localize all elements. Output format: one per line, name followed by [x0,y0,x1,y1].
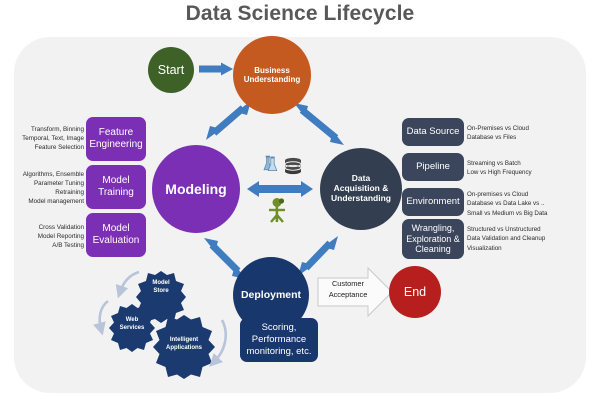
box-environment-label: Environment [406,196,459,208]
gear-web-services-label: Web Services [112,317,152,333]
box-scoring-performance-monitoring[interactable]: Scoring, Performance monitoring, etc. [240,318,318,362]
fe-detail-1: Transform, Binning [0,125,84,134]
me-detail-1: Cross Validation [0,223,84,232]
gw-line2: Services [120,325,145,331]
env-detail-3: Small vs Medium vs Big Data [467,209,587,218]
box-pipeline-label: Pipeline [416,161,450,173]
box-pipeline[interactable]: Pipeline [402,153,464,181]
node-start-label: Start [158,63,184,77]
gw-line1: Web [126,317,139,323]
node-business-understanding-label: Business Understanding [244,66,300,84]
mt-detail-2: Parameter Tuning [0,179,84,188]
details-feature-engineering: Transform, Binning Temporal, Text, Image… [0,125,84,152]
gi-line1: Intelligent [170,337,198,343]
me-line2: Evaluation [93,235,140,246]
node-modeling[interactable]: Modeling [152,145,240,233]
box-wrangling-label: Wrangling, Exploration & Cleaning [406,223,460,256]
fe-line2: Engineering [89,139,142,150]
sc-line2: Performance [252,334,306,345]
wr-line2: Exploration & [406,234,460,244]
env-detail-2: Database vs Data Lake vs .. [467,199,587,208]
node-deployment-label: Deployment [241,289,301,301]
details-data-source: On-Premises vs Cloud Database vs Files [467,124,587,143]
wr-detail-3: Visualization [467,244,587,253]
details-environment: On-premises vs Cloud Database vs Data La… [467,190,587,218]
mt-line2: Training [98,187,134,198]
me-detail-3: A/B Testing [0,241,84,250]
box-model-training[interactable]: Model Training [86,165,146,209]
customer-acceptance-label: Customer Acceptance [322,278,374,300]
node-end[interactable]: End [389,266,441,318]
node-start[interactable]: Start [148,47,194,93]
details-model-training: Algorithms, Ensemble Parameter Tuning Re… [0,170,84,207]
ca-line2: Acceptance [329,290,368,299]
mt-line1: Model [102,175,129,186]
wr-line1: Wrangling, [412,223,455,233]
node-data-acquisition[interactable]: Data Acquisition & Understanding [320,148,402,230]
node-data-acquisition-label: Data Acquisition & Understanding [331,174,391,203]
fe-detail-2: Temporal, Text, Image [0,134,84,143]
box-scoring-label: Scoring, Performance monitoring, etc. [247,322,312,358]
wr-detail-1: Structured vs Unstructured [467,225,587,234]
ds-detail-2: Database vs Files [467,133,587,142]
me-detail-2: Model Reporting [0,232,84,241]
details-model-evaluation: Cross Validation Model Reporting A/B Tes… [0,223,84,250]
box-feature-engineering-label: Feature Engineering [89,127,142,152]
fe-detail-3: Feature Selection [0,143,84,152]
box-data-source[interactable]: Data Source [402,118,464,146]
box-feature-engineering[interactable]: Feature Engineering [86,117,146,161]
pl-detail-2: Low vs High Frequency [467,168,587,177]
page-title: Data Science Lifecycle [0,2,600,26]
details-pipeline: Streaming vs Batch Low vs High Frequency [467,159,587,178]
wr-detail-2: Data Validation and Cleanup [467,234,587,243]
box-model-evaluation-label: Model Evaluation [93,223,140,248]
gear-intelligent-applications-label: Intelligent Applications [158,337,210,353]
customer-acceptance: Customer Acceptance [318,268,392,316]
da-line2: Acquisition & [334,183,389,193]
node-business-understanding[interactable]: Business Understanding [233,36,311,114]
details-wrangling: Structured vs Unstructured Data Validati… [467,225,587,253]
mt-detail-1: Algorithms, Ensemble [0,170,84,179]
bu-line1: Business [254,66,290,75]
gs-line2: Store [153,288,168,294]
box-environment[interactable]: Environment [402,188,464,216]
gi-line2: Applications [166,345,202,351]
box-wrangling-exploration-cleaning[interactable]: Wrangling, Exploration & Cleaning [402,219,464,259]
ds-detail-1: On-Premises vs Cloud [467,124,587,133]
box-model-training-label: Model Training [98,175,134,200]
mt-detail-4: Model management [0,197,84,206]
gs-line1: Model [152,280,169,286]
gear-model-store-label: Model Store [140,280,182,296]
sc-line1: Scoring, [262,322,297,333]
pl-detail-1: Streaming vs Batch [467,159,587,168]
ca-line1: Customer [332,279,364,288]
sc-line3: monitoring, etc. [247,346,312,357]
node-modeling-label: Modeling [165,181,226,197]
box-data-source-label: Data Source [407,126,460,138]
diagram-canvas: Data Science Lifecycle [0,0,600,404]
mt-detail-3: Retraining [0,188,84,197]
da-line3: Understanding [331,193,391,203]
env-detail-1: On-premises vs Cloud [467,190,587,199]
me-line1: Model [102,223,129,234]
wr-line3: Cleaning [415,244,451,254]
da-line1: Data [352,173,370,183]
node-end-label: End [404,285,426,299]
fe-line1: Feature [99,127,133,138]
box-model-evaluation[interactable]: Model Evaluation [86,213,146,257]
bu-line2: Understanding [244,75,300,84]
